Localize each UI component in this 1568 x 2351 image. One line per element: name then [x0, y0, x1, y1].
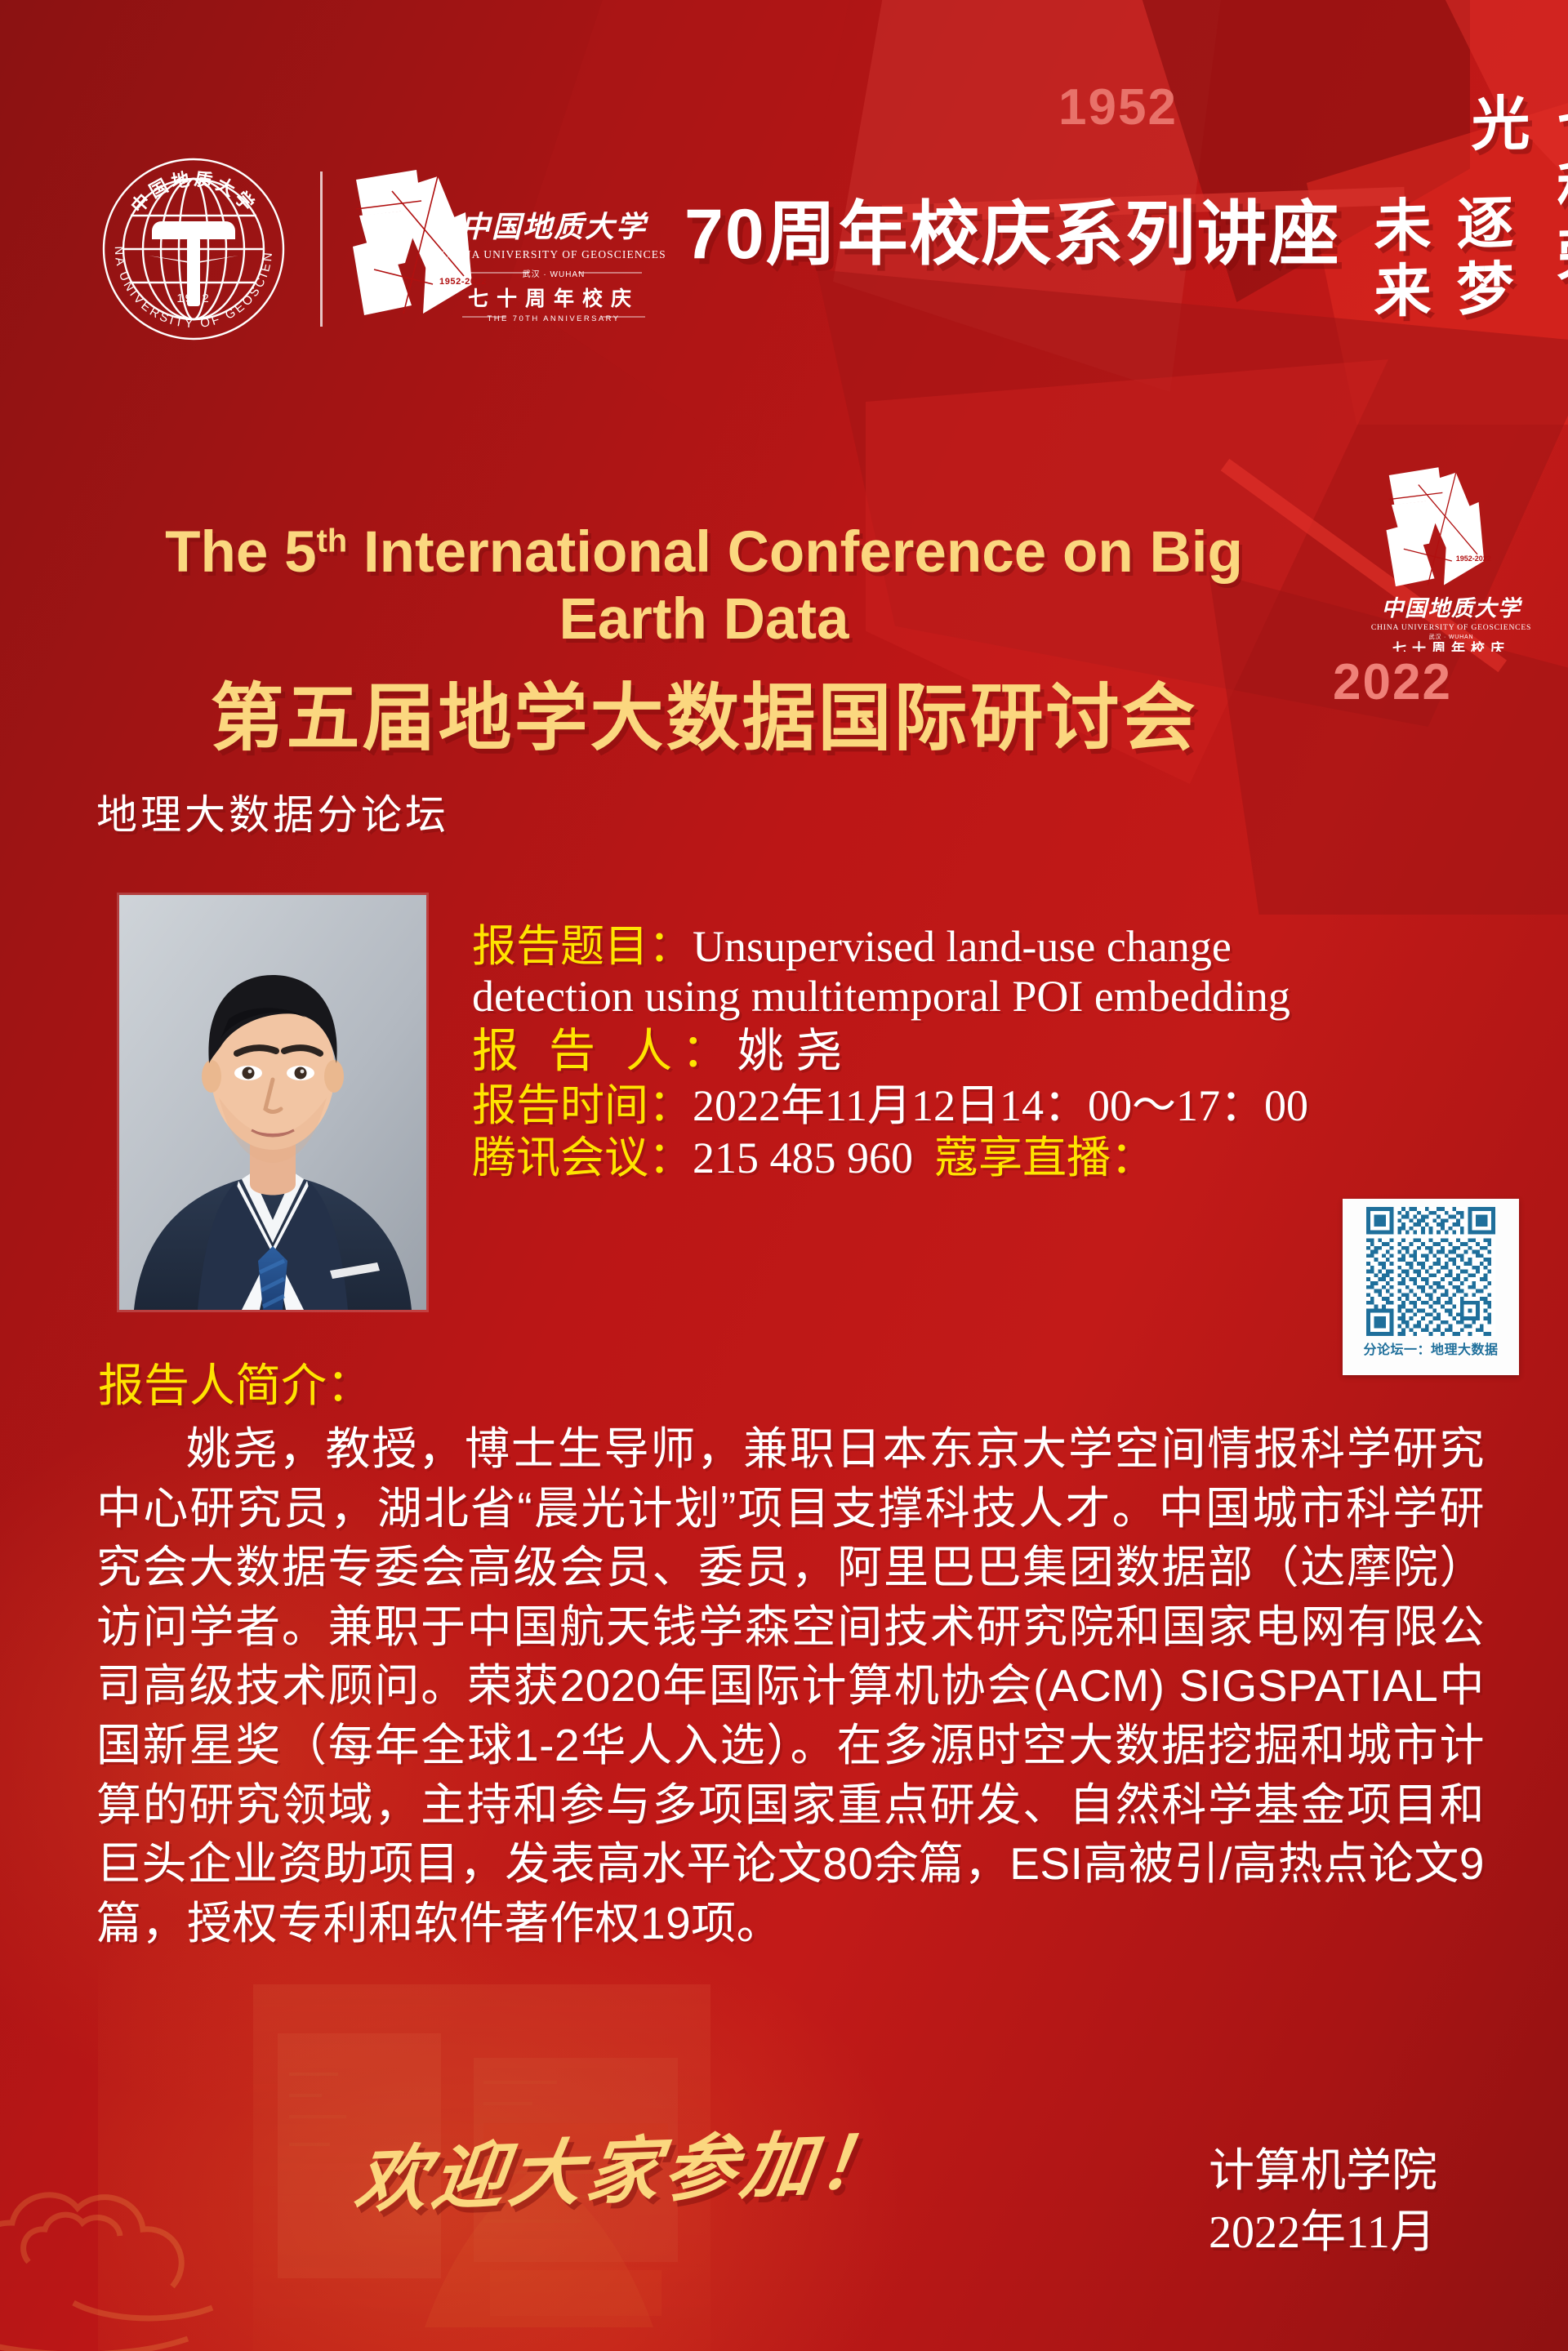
anniversary-wordmark-logo: 1952-2022 中国地质大学 CHINA UNIVERSITY OF GEO…	[341, 162, 668, 341]
title-en-line2: Earth Data	[559, 587, 849, 652]
qr-code-card[interactable]: 分论坛一：地理大数据	[1343, 1199, 1519, 1375]
title-en-part2: International Conference on Big	[347, 520, 1243, 585]
organizer-block: 计算机学院 2022年11月	[1209, 2141, 1535, 2264]
speaker-portrait	[119, 895, 426, 1310]
bio-heading: 报告人简介：	[98, 1349, 372, 1415]
banner-title: 70周年校庆系列讲座	[684, 176, 1341, 278]
svg-text:1952-2022: 1952-2022	[439, 277, 487, 287]
cloud-ornament-icon	[0, 2099, 408, 2351]
bio-text: 姚尧，教授，博士生导师，兼职日本东京大学空间情报科学研究中心研究员，湖北省“晨光…	[96, 1419, 1485, 1952]
conference-title-english: The 5th International Conference on Big …	[91, 519, 1316, 654]
welcome-message: 欢迎大家参加！	[350, 2104, 903, 2227]
svg-text:中国地质大学: 中国地质大学	[1382, 596, 1523, 621]
year-end-label: 2022	[1333, 653, 1452, 711]
talk-title-label: 报告题目：	[472, 921, 693, 973]
svg-text:七十周年校庆: 七十周年校庆	[1392, 640, 1510, 652]
anniversary-logo-small: 1952-2022 中国地质大学 CHINA UNIVERSITY OF GEO…	[1344, 459, 1558, 652]
meeting-row: 腾讯会议： 215 485 960 蔻享直播：	[472, 1133, 1550, 1184]
svg-text:中国地质大学: 中国地质大学	[461, 211, 649, 243]
conference-title-chinese: 第五届地学大数据国际研讨会	[91, 658, 1316, 764]
talk-title-value-line2: detection using multitemporal POI embedd…	[472, 971, 1550, 1022]
svg-text:CHINA UNIVERSITY OF GEOSCIENCE: CHINA UNIVERSITY OF GEOSCIENCES	[1371, 623, 1531, 632]
speaker-label: 报 告 人：	[472, 1025, 737, 1079]
speaker-name: 姚 尧	[737, 1025, 842, 1079]
year-start-label: 1952	[1058, 78, 1178, 136]
talk-title-row-2: detection using multitemporal POI embedd…	[472, 971, 1550, 1022]
svg-text:1952: 1952	[176, 292, 210, 305]
meeting-id: 215 485 960	[693, 1133, 913, 1184]
talk-info-block: 报告题目： Unsupervised land-use change detec…	[472, 921, 1550, 1184]
svg-text:武汉 · WUHAN: 武汉 · WUHAN	[1429, 633, 1474, 640]
poster-header: 中国地质大学 CHINA UNIVERSITY OF GEOSCIENCES 1…	[0, 0, 1568, 343]
svg-text:中国地质大学: 中国地质大学	[127, 168, 261, 216]
time-value: 2022年11月12日14：00～17：00	[693, 1080, 1308, 1132]
subforum-label: 地理大数据分论坛	[96, 782, 449, 841]
time-row: 报告时间： 2022年11月12日14：00～17：00	[472, 1080, 1550, 1132]
svg-text:THE 70TH ANNIVERSARY: THE 70TH ANNIVERSARY	[488, 314, 621, 323]
title-en-part1: The 5	[165, 520, 316, 585]
speaker-photo-illustration	[119, 895, 426, 1310]
talk-title-value-line1: Unsupervised land-use change	[693, 921, 1232, 973]
qr-caption: 分论坛一：地理大数据	[1363, 1338, 1498, 1358]
calligraphy-left: 逐梦未来	[1356, 192, 1521, 345]
svg-text:武汉 · WUHAN: 武汉 · WUHAN	[523, 269, 586, 279]
meeting-label: 腾讯会议：	[472, 1133, 693, 1184]
svg-text:1952-2022: 1952-2022	[1456, 554, 1491, 563]
time-label: 报告时间：	[472, 1080, 693, 1132]
poster-canvas: 中国地质大学 CHINA UNIVERSITY OF GEOSCIENCES 1…	[0, 0, 1568, 2351]
header-divider	[320, 171, 323, 327]
title-en-ordinal: th	[317, 523, 348, 559]
live-stream-label: 蔻享直播：	[934, 1133, 1155, 1184]
organizer-date: 2022年11月	[1209, 2202, 1535, 2264]
svg-text:七十周年校庆: 七十周年校庆	[468, 287, 639, 310]
speaker-row: 报 告 人： 姚 尧	[472, 1025, 1550, 1079]
organizer-name: 计算机学院	[1209, 2141, 1535, 2202]
university-emblem-icon: 中国地质大学 CHINA UNIVERSITY OF GEOSCIENCES 1…	[101, 157, 286, 341]
svg-text:CHINA UNIVERSITY OF GEOSCIENCE: CHINA UNIVERSITY OF GEOSCIENCES	[441, 248, 666, 260]
talk-title-row: 报告题目： Unsupervised land-use change	[472, 921, 1550, 973]
qr-code-icon[interactable]	[1353, 1207, 1508, 1336]
